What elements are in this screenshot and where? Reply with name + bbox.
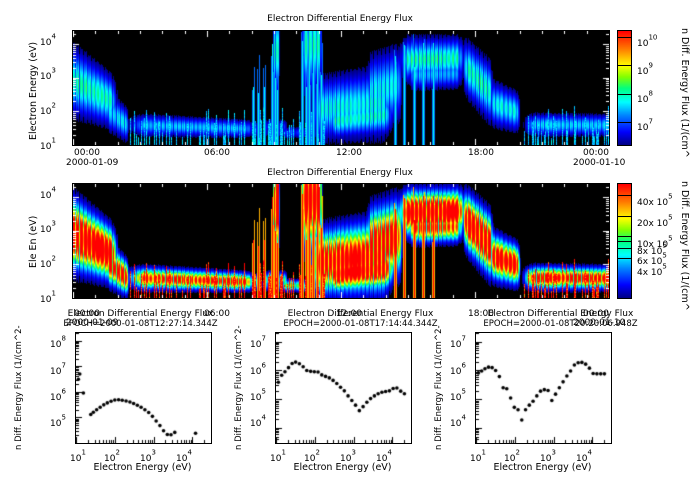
panel1-colorbar[interactable] <box>617 30 632 146</box>
colorbar-tick <box>618 216 631 217</box>
spectrum-1-ytick-0: 107 <box>250 332 266 351</box>
colorbar-tick <box>618 65 631 66</box>
spectrum-2-canvas <box>476 333 611 443</box>
panel1-ytick-3: 101 <box>40 134 56 153</box>
colorbar-tick <box>618 122 631 123</box>
spectrum-1-canvas <box>276 333 411 443</box>
panel1-cbtick-0: 1010 <box>637 31 657 50</box>
spectrum-2-ytick-3: 104 <box>450 411 466 430</box>
spectrum-0-ytick-2: 106 <box>50 385 66 404</box>
panel2-colorbar[interactable] <box>617 183 632 299</box>
colorbar-tick <box>618 37 631 38</box>
spectrum-1-ytick-3: 104 <box>250 411 266 430</box>
colorbar-tick <box>618 248 631 249</box>
panel2-title: Electron Differential Energy Flux <box>72 168 608 178</box>
panel1-xdate-4: 2000-01-10 <box>573 158 625 168</box>
panel2-colorbar-label: n Diff. Energy Flux (1/(cm^ <box>679 181 690 311</box>
spectrum-2-ytick-2: 105 <box>450 385 466 404</box>
colorbar-tick <box>618 236 631 237</box>
panel2-ytick-2: 102 <box>40 252 56 271</box>
spectrum-2-subtitle: EPOCH=2000-01-08T20:20:06.948Z <box>453 319 668 329</box>
colorbar-tick <box>618 195 631 196</box>
spectrum-2-ylabel: n Diff. Energy Flux (1/(cm^2- <box>434 325 444 450</box>
spectrum-0-plot[interactable] <box>75 332 212 444</box>
colorbar-tick <box>618 94 631 95</box>
panel1-cbtick-1: 109 <box>637 59 653 78</box>
panel1-xtick-4: 00:00 <box>583 148 609 158</box>
panel1-xtick-0: 00:00 <box>74 148 100 158</box>
panel1-ytick-1: 103 <box>40 64 56 83</box>
panel1-cbtick-3: 107 <box>637 115 653 134</box>
panel1-spectrogram[interactable] <box>72 30 610 146</box>
panel1-xdate-0: 2000-01-09 <box>66 158 118 168</box>
panel1-ytick-0: 104 <box>40 30 56 49</box>
spectrum-0-canvas <box>76 333 211 443</box>
panel2-ytick-0: 104 <box>40 183 56 202</box>
spectrum-0-ytick-1: 107 <box>50 359 66 378</box>
spectrum-2-title: Electron Differential Energy Flux <box>453 309 668 319</box>
spectrum-1-ylabel: n Diff. Energy Flux (1/(cm^2- <box>234 325 244 450</box>
spectrum-0-ytick-3: 105 <box>50 411 66 430</box>
panel1-cbtick-2: 108 <box>637 87 653 106</box>
panel1-xtick-3: 18:00 <box>468 148 494 158</box>
panel1-ytick-2: 102 <box>40 99 56 118</box>
spectrum-2-plot[interactable] <box>475 332 612 444</box>
panel2-cbtick-5: 4x 105 <box>637 260 667 279</box>
panel2-ylabel: Ele En (eV) <box>28 216 39 268</box>
spectrum-0-ytick-0: 108 <box>50 332 66 351</box>
colorbar-tick <box>618 241 631 242</box>
panel2-cbtick-0: 40x 105 <box>637 190 673 209</box>
spectrum-0-subtitle: EPOCH=2000-01-08T12:27:14.344Z <box>33 319 248 329</box>
panel2-spectrogram[interactable] <box>72 183 610 299</box>
spectrum-2-ytick-1: 106 <box>450 359 466 378</box>
panel1-xtick-1: 06:00 <box>204 148 230 158</box>
spectrum-1-xlabel: Electron Energy (eV) <box>275 462 410 473</box>
panel2-cbtick-1: 20x 105 <box>637 211 673 230</box>
spectrum-1-plot[interactable] <box>275 332 412 444</box>
panel2-ytick-1: 103 <box>40 217 56 236</box>
spectrum-0-title: Electron Differential Energy Flux <box>33 309 248 319</box>
panel2-ytick-3: 101 <box>40 287 56 306</box>
spectrum-1-title: Electron Differential Energy Flux <box>253 309 468 319</box>
axis-ticks <box>73 31 609 145</box>
spectrum-0-xlabel: Electron Energy (eV) <box>75 462 210 473</box>
panel1-ylabel: Electron Energy (eV) <box>28 42 39 140</box>
spectrum-0-ylabel: n Diff. Energy Flux (1/(cm^2- <box>14 325 24 450</box>
panel1-colorbar-label: n Diff. Energy Flux (1/(cm^ <box>679 28 690 158</box>
spectrum-2-xlabel: Electron Energy (eV) <box>475 462 610 473</box>
panel1-colorbar-canvas <box>618 31 631 145</box>
spectrum-1-ytick-2: 105 <box>250 385 266 404</box>
spectrum-2-ytick-0: 107 <box>450 332 466 351</box>
spectrum-1-ytick-1: 106 <box>250 359 266 378</box>
panel1-xtick-2: 12:00 <box>336 148 362 158</box>
axis-ticks <box>73 184 609 298</box>
panel1-title: Electron Differential Energy Flux <box>72 14 608 24</box>
colorbar-tick <box>618 258 631 259</box>
